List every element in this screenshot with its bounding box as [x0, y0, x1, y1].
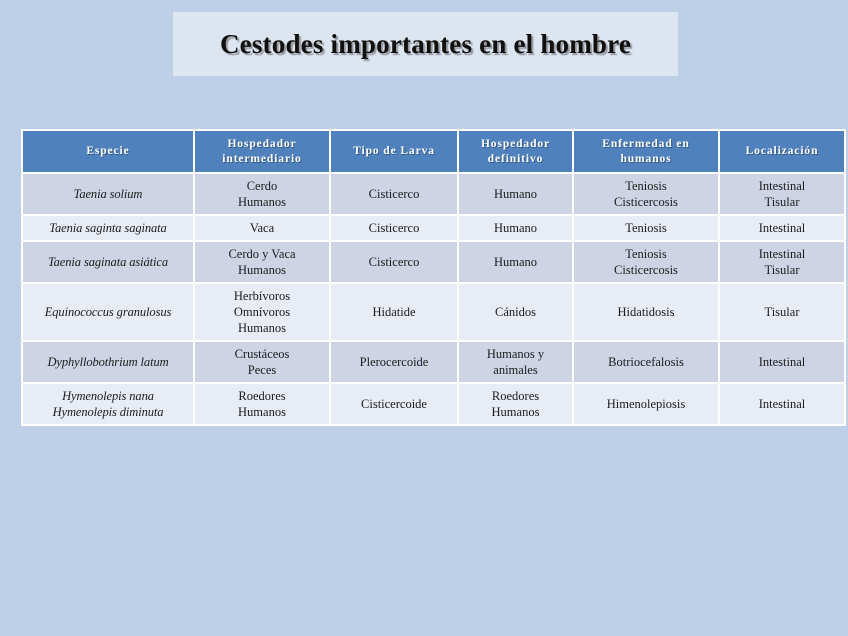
cell-line: Tisular	[723, 304, 841, 320]
cell-line: Cisticerco	[334, 254, 454, 270]
cell-especie: Taenia solium	[23, 174, 193, 214]
cell-hospedador-definitivo: RoedoresHumanos	[459, 384, 572, 424]
cell-line: Teniosis	[577, 246, 715, 262]
cell-line: Hidatidosis	[577, 304, 715, 320]
cell-especie: Equinococcus granulosus	[23, 284, 193, 340]
table-row: Hymenolepis nanaHymenolepis diminutaRoed…	[23, 384, 844, 424]
table-header-tipo-de-larva: Tipo de Larva	[331, 131, 457, 172]
cell-especie: Taenia saginata asiática	[23, 242, 193, 282]
cell-line: Omnívoros	[198, 304, 326, 320]
cell-line: Vaca	[198, 220, 326, 236]
cell-line: Taenia solium	[26, 186, 190, 202]
cell-tipo-de-larva: Cisticercoide	[331, 384, 457, 424]
cell-line: Cisticerco	[334, 220, 454, 236]
header-line: Tipo de Larva	[334, 144, 454, 159]
cell-line: Roedores	[198, 388, 326, 404]
cell-especie: Dyphyllobothrium latum	[23, 342, 193, 382]
cell-especie: Hymenolepis nanaHymenolepis diminuta	[23, 384, 193, 424]
page-title: Cestodes importantes en el hombre	[220, 29, 631, 60]
header-line: humanos	[577, 152, 715, 167]
cell-line: Herbívoros	[198, 288, 326, 304]
table-header-row: EspecieHospedadorintermediarioTipo de La…	[23, 131, 844, 172]
cell-line: Cisticercosis	[577, 262, 715, 278]
cell-line: Teniosis	[577, 178, 715, 194]
cell-line: Intestinal	[723, 396, 841, 412]
cell-line: Tisular	[723, 262, 841, 278]
cell-enfermedad-en-humanos: Botriocefalosis	[574, 342, 718, 382]
cell-localizacion: Intestinal	[720, 342, 844, 382]
cell-line: Taenia saginta saginata	[26, 220, 190, 236]
cell-hospedador-definitivo: Humano	[459, 216, 572, 240]
cell-line: Humanos	[198, 404, 326, 420]
cell-line: Cánidos	[462, 304, 569, 320]
cell-line: Himenolepiosis	[577, 396, 715, 412]
table-header-localizacion: Localización	[720, 131, 844, 172]
cell-localizacion: IntestinalTisular	[720, 242, 844, 282]
header-line: definitivo	[462, 152, 569, 167]
cell-line: animales	[462, 362, 569, 378]
cell-line: Cerdo	[198, 178, 326, 194]
cell-line: Humanos y	[462, 346, 569, 362]
header-line: Hospedador	[198, 137, 326, 152]
cell-tipo-de-larva: Plerocercoide	[331, 342, 457, 382]
header-line: Enfermedad en	[577, 137, 715, 152]
cell-line: Botriocefalosis	[577, 354, 715, 370]
cell-line: Plerocercoide	[334, 354, 454, 370]
cell-hospedador-definitivo: Cánidos	[459, 284, 572, 340]
header-line: Especie	[26, 144, 190, 159]
cell-localizacion: Intestinal	[720, 384, 844, 424]
table-body: Taenia soliumCerdoHumanosCisticercoHuman…	[23, 174, 844, 424]
cell-line: Taenia saginata asiática	[26, 254, 190, 270]
cell-line: Hymenolepis nana	[26, 388, 190, 404]
cell-especie: Taenia saginta saginata	[23, 216, 193, 240]
cell-hospedador-intermediario: RoedoresHumanos	[195, 384, 329, 424]
table-header-enfermedad-en-humanos: Enfermedad enhumanos	[574, 131, 718, 172]
cell-line: Dyphyllobothrium latum	[26, 354, 190, 370]
header-line: Hospedador	[462, 137, 569, 152]
cell-enfermedad-en-humanos: Himenolepiosis	[574, 384, 718, 424]
cell-line: Intestinal	[723, 178, 841, 194]
table-row: Taenia saginta saginataVacaCisticercoHum…	[23, 216, 844, 240]
cell-line: Tisular	[723, 194, 841, 210]
cell-tipo-de-larva: Cisticerco	[331, 216, 457, 240]
cell-line: Cisticercosis	[577, 194, 715, 210]
cell-line: Intestinal	[723, 354, 841, 370]
cell-line: Hidatide	[334, 304, 454, 320]
cell-line: Teniosis	[577, 220, 715, 236]
cell-tipo-de-larva: Cisticerco	[331, 242, 457, 282]
table-row: Taenia soliumCerdoHumanosCisticercoHuman…	[23, 174, 844, 214]
cell-line: Hymenolepis diminuta	[26, 404, 190, 420]
cell-line: Cerdo y Vaca	[198, 246, 326, 262]
table-header-hospedador-intermediario: Hospedadorintermediario	[195, 131, 329, 172]
cell-line: Humano	[462, 186, 569, 202]
cell-enfermedad-en-humanos: TeniosisCisticercosis	[574, 242, 718, 282]
cell-localizacion: Tisular	[720, 284, 844, 340]
cell-tipo-de-larva: Hidatide	[331, 284, 457, 340]
cell-hospedador-intermediario: HerbívorosOmnívorosHumanos	[195, 284, 329, 340]
cestodes-table: EspecieHospedadorintermediarioTipo de La…	[21, 129, 846, 426]
cell-enfermedad-en-humanos: TeniosisCisticercosis	[574, 174, 718, 214]
table-header-especie: Especie	[23, 131, 193, 172]
cell-enfermedad-en-humanos: Teniosis	[574, 216, 718, 240]
cestodes-table-container: EspecieHospedadorintermediarioTipo de La…	[21, 129, 832, 426]
cell-hospedador-definitivo: Humano	[459, 242, 572, 282]
cell-tipo-de-larva: Cisticerco	[331, 174, 457, 214]
cell-hospedador-intermediario: CrustáceosPeces	[195, 342, 329, 382]
cell-line: Roedores	[462, 388, 569, 404]
cell-localizacion: IntestinalTisular	[720, 174, 844, 214]
cell-line: Humano	[462, 254, 569, 270]
table-row: Dyphyllobothrium latumCrustáceosPecesPle…	[23, 342, 844, 382]
cell-line: Peces	[198, 362, 326, 378]
header-line: intermediario	[198, 152, 326, 167]
cell-hospedador-intermediario: CerdoHumanos	[195, 174, 329, 214]
cell-hospedador-intermediario: Vaca	[195, 216, 329, 240]
cell-line: Intestinal	[723, 220, 841, 236]
cell-line: Crustáceos	[198, 346, 326, 362]
cell-line: Humanos	[198, 194, 326, 210]
slide-title-box: Cestodes importantes en el hombre	[173, 12, 678, 76]
cell-hospedador-definitivo: Humanos yanimales	[459, 342, 572, 382]
cell-line: Cisticerco	[334, 186, 454, 202]
cell-hospedador-intermediario: Cerdo y VacaHumanos	[195, 242, 329, 282]
table-row: Taenia saginata asiáticaCerdo y VacaHuma…	[23, 242, 844, 282]
cell-line: Intestinal	[723, 246, 841, 262]
cell-hospedador-definitivo: Humano	[459, 174, 572, 214]
cell-line: Humanos	[198, 320, 326, 336]
header-line: Localización	[723, 144, 841, 159]
table-header: EspecieHospedadorintermediarioTipo de La…	[23, 131, 844, 172]
table-row: Equinococcus granulosusHerbívorosOmnívor…	[23, 284, 844, 340]
cell-line: Humanos	[462, 404, 569, 420]
cell-line: Equinococcus granulosus	[26, 304, 190, 320]
cell-line: Cisticercoide	[334, 396, 454, 412]
table-header-hospedador-definitivo: Hospedadordefinitivo	[459, 131, 572, 172]
cell-localizacion: Intestinal	[720, 216, 844, 240]
cell-enfermedad-en-humanos: Hidatidosis	[574, 284, 718, 340]
cell-line: Humanos	[198, 262, 326, 278]
cell-line: Humano	[462, 220, 569, 236]
